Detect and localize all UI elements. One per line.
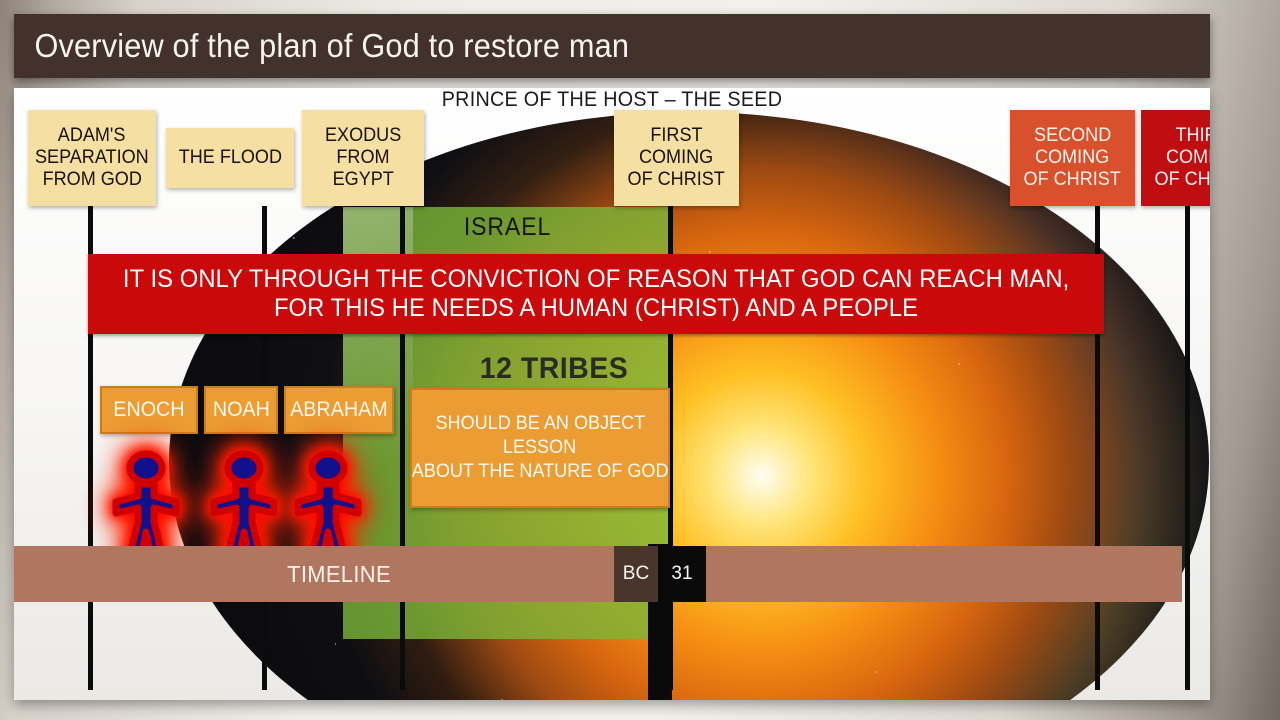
slide-content-panel: ISRAEL 12 TRIBES SHOULD BE AN OBJECT LES…	[14, 88, 1210, 700]
event-line-2: COMING	[639, 147, 713, 169]
tribes-line-3: ABOUT THE NATURE OF GOD	[412, 460, 669, 484]
event-line-3: OF CHRIST	[628, 169, 725, 191]
timeline-marker-year-31: 31	[658, 546, 706, 602]
event-line-2: COMING	[1166, 147, 1210, 169]
twelve-tribes-title: 12 TRIBES	[421, 352, 687, 386]
event-line-3: EGYPT	[332, 169, 393, 191]
page-title: Overview of the plan of God to restore m…	[14, 27, 629, 65]
event-line-3: FROM GOD	[42, 169, 141, 191]
tribes-line-2: LESSON	[503, 436, 576, 460]
slide-stage: Overview of the plan of God to restore m…	[0, 0, 1280, 720]
event-line-1: EXODUS	[325, 125, 401, 147]
patriarch-box-noah[interactable]: NOAH	[204, 386, 278, 434]
patriarch-box-abraham[interactable]: ABRAHAM	[284, 386, 394, 434]
slide-title-bar: Overview of the plan of God to restore m…	[14, 14, 1210, 78]
banner-line-1: IT IS ONLY THROUGH THE CONVICTION OF REA…	[123, 265, 1069, 294]
event-line-1: THE FLOOD	[178, 147, 281, 169]
event-line-3: OF CHRIST	[1024, 169, 1121, 191]
twelve-tribes-box: SHOULD BE AN OBJECT LESSON ABOUT THE NAT…	[410, 388, 670, 508]
event-card-adams-separation[interactable]: ADAM'S SEPARATION FROM GOD	[28, 110, 156, 206]
event-line-1: ADAM'S	[58, 125, 126, 147]
timeline-marker-bc: BC	[614, 546, 658, 602]
event-line-1: FIRST	[650, 125, 702, 147]
event-card-second-coming[interactable]: SECOND COMING OF CHRIST	[1010, 110, 1135, 206]
event-line-1: THIRD	[1176, 125, 1210, 147]
event-card-the-flood[interactable]: THE FLOOD	[166, 128, 294, 188]
patriarch-label-abraham: ABRAHAM	[290, 398, 388, 422]
timeline-marker-line-third	[1185, 206, 1190, 690]
key-statement-banner: IT IS ONLY THROUGH THE CONVICTION OF REA…	[88, 254, 1104, 334]
timeline-label: TIMELINE	[249, 546, 430, 602]
tribes-line-1: SHOULD BE AN OBJECT	[435, 412, 645, 436]
patriarch-box-enoch[interactable]: ENOCH	[100, 386, 198, 434]
event-line-3: OF CHRIST	[1155, 169, 1210, 191]
prince-of-the-host-label: PRINCE OF THE HOST – THE SEED	[50, 88, 1174, 112]
event-line-2: COMING	[1035, 147, 1109, 169]
event-card-exodus-from-egypt[interactable]: EXODUS FROM EGYPT	[302, 110, 424, 206]
event-line-2: FROM	[336, 147, 389, 169]
event-line-2: SEPARATION	[35, 147, 149, 169]
event-card-first-coming[interactable]: FIRST COMING OF CHRIST	[614, 110, 739, 206]
patriarch-label-enoch: ENOCH	[113, 398, 184, 422]
timeline-bar: TIMELINE BC 31	[14, 546, 1182, 602]
patriarch-label-noah: NOAH	[212, 398, 269, 422]
banner-line-2: FOR THIS HE NEEDS A HUMAN (CHRIST) AND A…	[274, 294, 918, 323]
event-line-1: SECOND	[1034, 125, 1111, 147]
event-card-third-coming[interactable]: THIRD COMING OF CHRIST	[1141, 110, 1210, 206]
